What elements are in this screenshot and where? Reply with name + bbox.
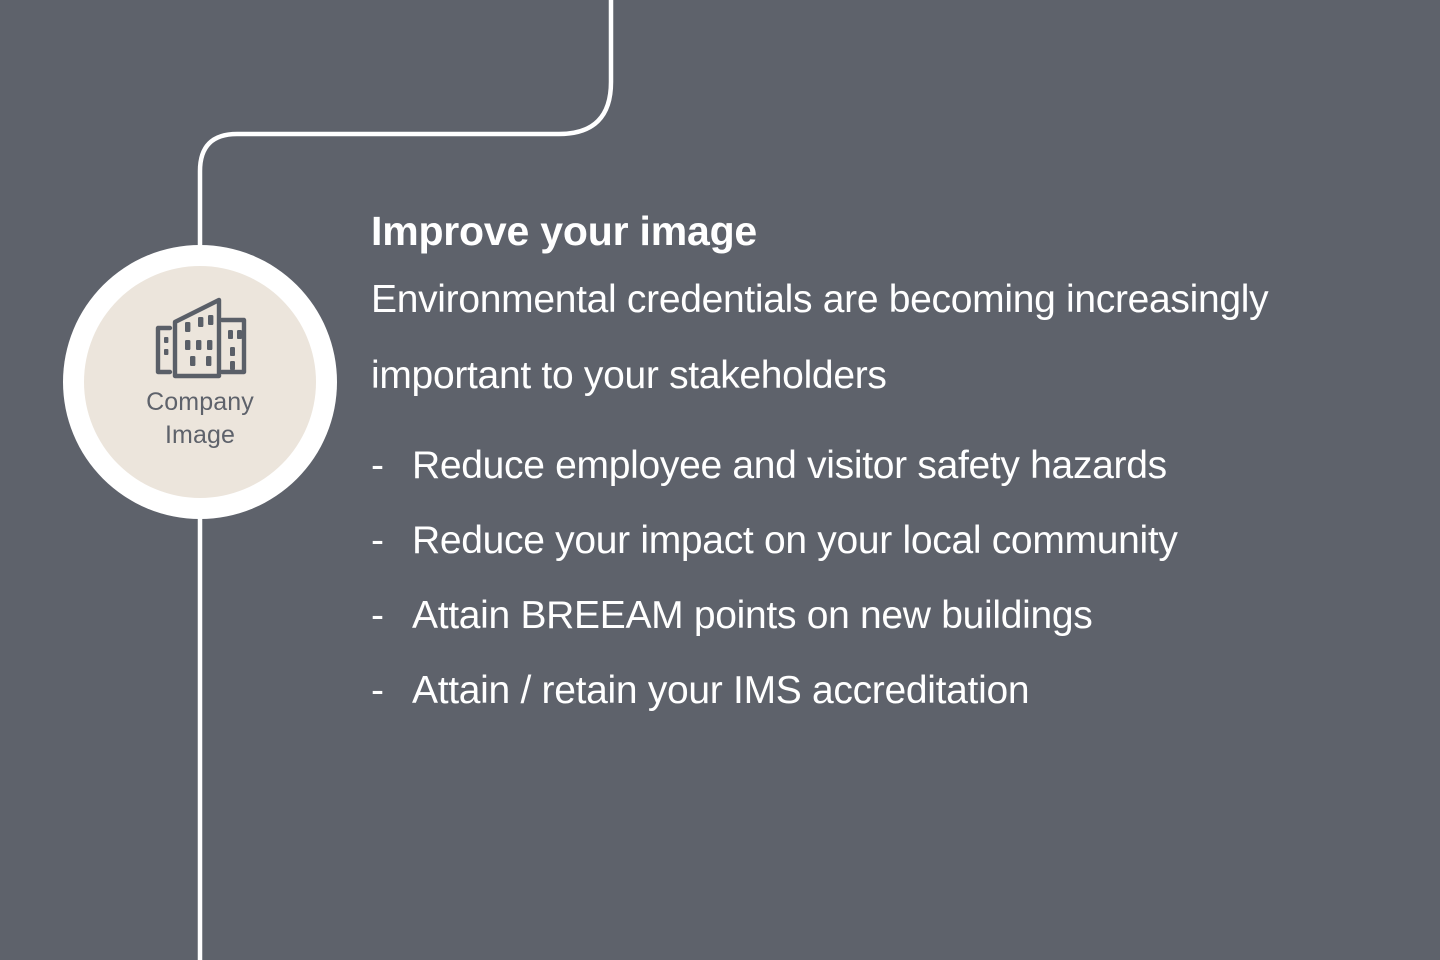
list-item: - Reduce employee and visitor safety haz… xyxy=(371,444,1431,519)
slide-canvas: Company Image Improve your image Environ… xyxy=(0,0,1440,960)
badge-label: Company Image xyxy=(146,386,254,452)
badge-label-line-2: Image xyxy=(146,419,254,452)
subtitle-text: Environmental credentials are becoming i… xyxy=(371,262,1371,414)
buildings-icon xyxy=(150,292,250,380)
bullet-marker: - xyxy=(371,519,412,563)
list-item: - Reduce your impact on your local commu… xyxy=(371,519,1431,594)
list-item: - Attain BREEAM points on new buildings xyxy=(371,594,1431,669)
list-item-label: Reduce your impact on your local communi… xyxy=(412,519,1178,563)
bullet-marker: - xyxy=(371,594,412,638)
badge-label-line-1: Company xyxy=(146,386,254,419)
list-item-label: Reduce employee and visitor safety hazar… xyxy=(412,444,1167,488)
bullet-marker: - xyxy=(371,669,412,713)
page-title: Improve your image xyxy=(371,206,1431,256)
list-item-label: Attain BREEAM points on new buildings xyxy=(412,594,1092,638)
benefits-list: - Reduce employee and visitor safety haz… xyxy=(371,444,1431,744)
list-item: - Attain / retain your IMS accreditation xyxy=(371,669,1431,744)
list-item-label: Attain / retain your IMS accreditation xyxy=(412,669,1029,713)
bullet-marker: - xyxy=(371,444,412,488)
content-column: Improve your image Environmental credent… xyxy=(371,206,1431,744)
company-image-badge: Company Image xyxy=(63,245,337,519)
badge-inner-disc: Company Image xyxy=(84,266,316,498)
